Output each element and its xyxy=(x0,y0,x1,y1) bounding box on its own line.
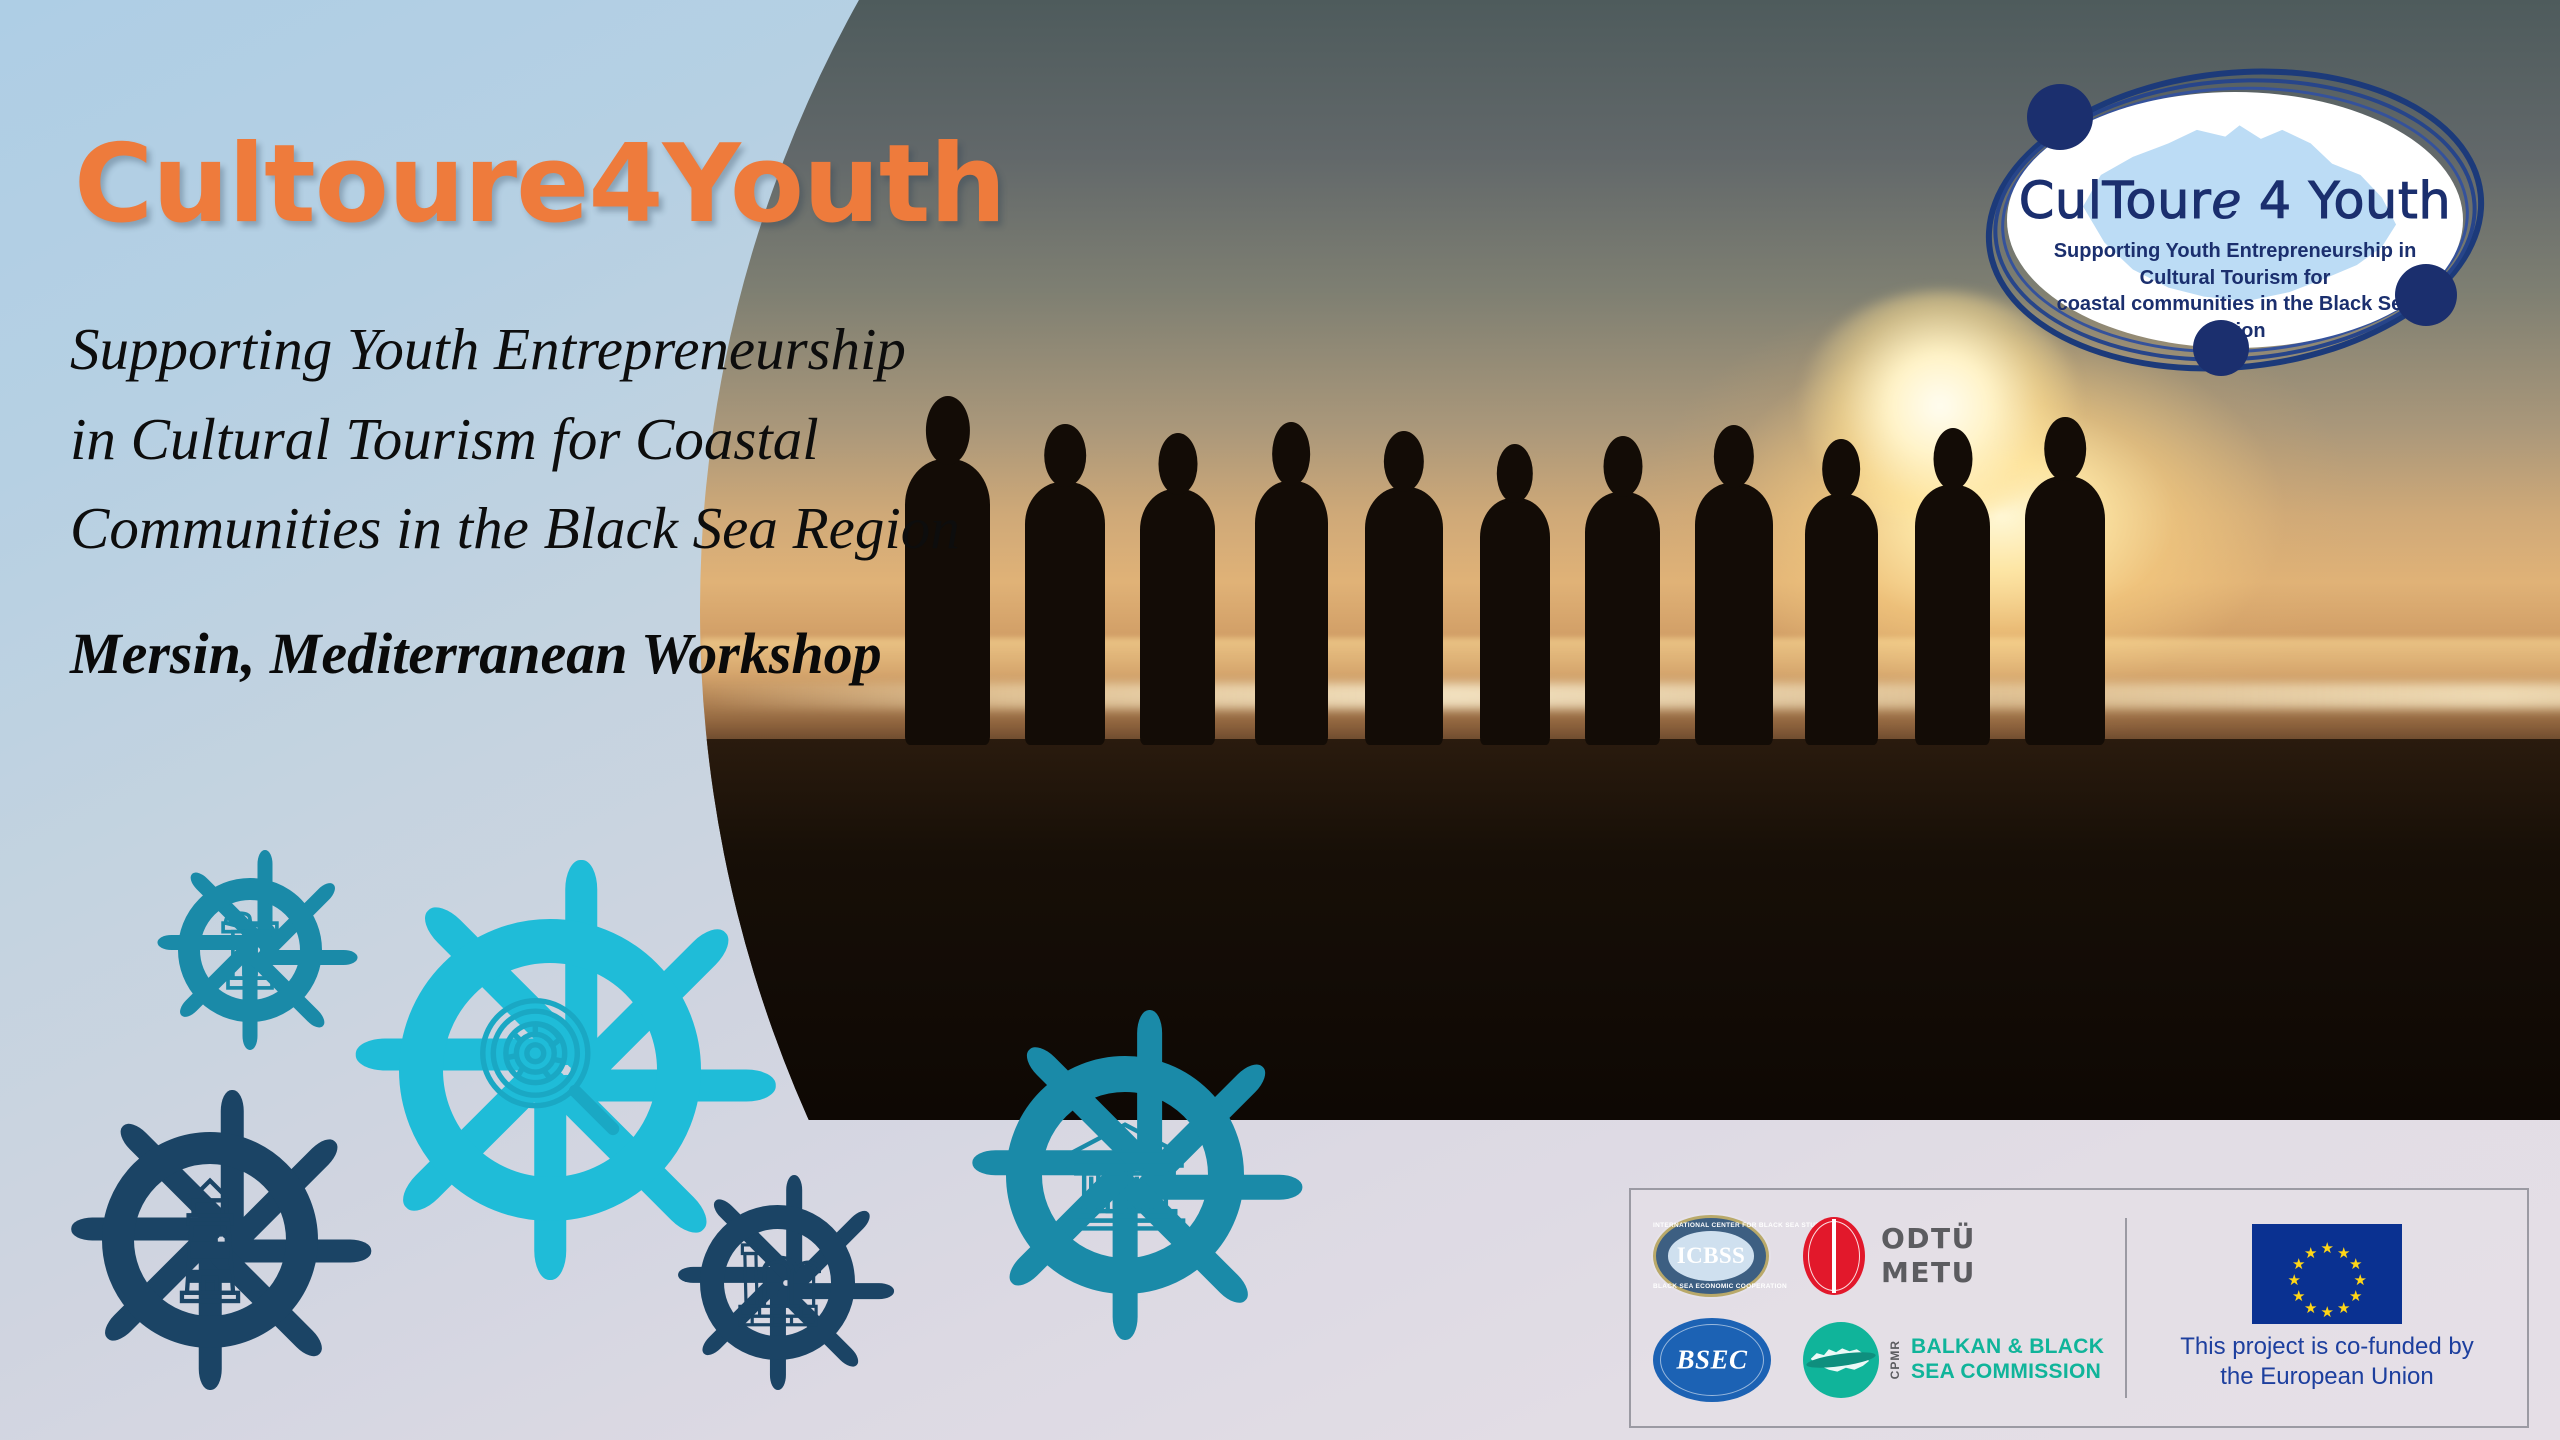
eu-star: ★ xyxy=(2349,1290,2362,1303)
subtitle-line-2: in Cultural Tourism for Coastal xyxy=(70,395,960,485)
funding-panel: INTERNATIONAL CENTER FOR BLACK SEA STUDI… xyxy=(1629,1188,2529,1428)
logo-word-cultour: CulTour xyxy=(2019,172,2212,231)
logo-dot-bottom-right xyxy=(2395,264,2457,326)
icbss-arc-top-text: INTERNATIONAL CENTER FOR BLACK SEA STUDI… xyxy=(1653,1222,1769,1229)
subtitle-line-1: Supporting Youth Entrepreneurship xyxy=(70,305,960,395)
eu-star: ★ xyxy=(2354,1274,2367,1287)
logo-word-youth: Youth xyxy=(2308,172,2451,231)
silhouette-person xyxy=(1585,492,1660,745)
partner-logos: INTERNATIONAL CENTER FOR BLACK SEA STUDI… xyxy=(1631,1190,2121,1426)
subtitle-line-3: Communities in the Black Sea Region xyxy=(70,484,960,574)
silhouette-person xyxy=(2025,476,2105,745)
eu-star: ★ xyxy=(2337,1302,2350,1315)
eu-star: ★ xyxy=(2292,1258,2305,1271)
eu-star: ★ xyxy=(2321,1306,2334,1319)
cpmr-commission-name: BALKAN & BLACK SEA COMMISSION xyxy=(1911,1335,2104,1385)
icbss-arc-bottom-text: BLACK SEA ECONOMIC COOPERATION xyxy=(1653,1283,1769,1290)
odtu-label: ODTÜ xyxy=(1881,1222,1976,1256)
silhouette-person xyxy=(1915,485,1990,745)
odtu-metu-names: ODTÜ METU xyxy=(1881,1222,1976,1289)
wheel-lighthouse xyxy=(60,1090,360,1390)
cpmr-globe-icon xyxy=(1803,1322,1879,1398)
silhouette-person xyxy=(1805,494,1878,745)
logo-word-e: e xyxy=(2211,172,2242,231)
wheel-temple xyxy=(960,1010,1290,1340)
eu-star: ★ xyxy=(2349,1258,2362,1271)
metu-label: METU xyxy=(1881,1256,1976,1290)
ruins-icon xyxy=(735,1235,821,1330)
cpmr-name-line-1: BALKAN & BLACK xyxy=(1911,1335,2104,1360)
eu-star: ★ xyxy=(2304,1247,2317,1260)
greek-column-icon xyxy=(210,906,290,994)
eu-star: ★ xyxy=(2304,1302,2317,1315)
bsec-abbr: BSEC xyxy=(1653,1345,1771,1376)
odtu-mark-icon xyxy=(1803,1217,1865,1295)
project-logo: CulToure 4 Youth Supporting Youth Entrep… xyxy=(1985,70,2485,370)
silhouette-person xyxy=(1025,482,1105,745)
wheel-column xyxy=(150,850,350,1050)
logo-word-four: 4 xyxy=(2242,172,2308,231)
eu-star: ★ xyxy=(2288,1274,2301,1287)
wheel-ruins xyxy=(670,1175,885,1390)
silhouette-person xyxy=(1255,481,1328,745)
bsec-logo: BSEC xyxy=(1653,1318,1771,1402)
temple-icon xyxy=(1059,1102,1191,1247)
lighthouse-icon xyxy=(150,1174,270,1306)
logo-dot-bottom-center xyxy=(2193,320,2249,376)
logo-wordmark: CulToure 4 Youth xyxy=(1985,172,2485,231)
eu-funding-line-1: This project is co-funded by xyxy=(2180,1332,2473,1362)
poster-subtitle: Supporting Youth Entrepreneurship in Cul… xyxy=(70,305,960,574)
silhouette-person xyxy=(1695,483,1773,745)
european-union-flag-icon: ★ ★ ★ ★ ★ ★ ★ ★ ★ ★ ★ ★ xyxy=(2252,1224,2402,1324)
odtu-metu-logo: ODTÜ METU xyxy=(1803,1217,2121,1295)
cpmr-abbr: CPMR xyxy=(1889,1340,1901,1379)
magnifier-shell-icon xyxy=(466,978,634,1163)
logo-dot-top-left xyxy=(2027,84,2093,150)
logo-tagline-line-1: Supporting Youth Entrepreneurship in Cul… xyxy=(2025,238,2445,291)
cpmr-logo: CPMR BALKAN & BLACK SEA COMMISSION xyxy=(1803,1322,2121,1398)
eu-funding-text: This project is co-funded by the Europea… xyxy=(2180,1332,2473,1392)
eu-funding-line-2: the European Union xyxy=(2180,1362,2473,1392)
cpmr-name-line-2: SEA COMMISSION xyxy=(1911,1360,2104,1385)
silhouette-person xyxy=(1365,487,1443,745)
eu-star: ★ xyxy=(2321,1242,2334,1255)
workshop-label: Mersin, Mediterranean Workshop xyxy=(70,620,882,687)
icbss-logo: INTERNATIONAL CENTER FOR BLACK SEA STUDI… xyxy=(1653,1215,1769,1297)
silhouette-person xyxy=(1480,498,1550,744)
eu-funding-block: ★ ★ ★ ★ ★ ★ ★ ★ ★ ★ ★ ★ This project is … xyxy=(2127,1224,2527,1392)
poster-title: Cultoure4Youth xyxy=(74,122,1005,247)
poster-canvas: Cultoure4Youth Supporting Youth Entrepre… xyxy=(0,0,2560,1440)
silhouette-person xyxy=(1140,489,1215,744)
icbss-abbr: ICBSS xyxy=(1653,1243,1769,1269)
